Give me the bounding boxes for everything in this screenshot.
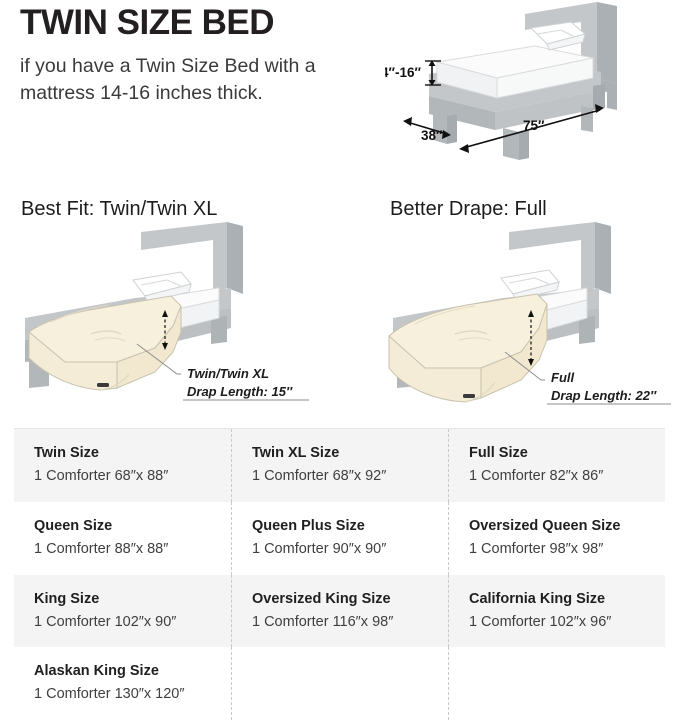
size-dimensions: 1 Comforter 88″x 88″ [34, 539, 231, 561]
drape-annotation-line1-left: Twin/Twin XL [187, 366, 269, 381]
size-name: Oversized Queen Size [469, 516, 665, 537]
size-dimensions: 1 Comforter 130″x 120″ [34, 684, 231, 706]
table-cell: California King Size 1 Comforter 102″x 9… [448, 575, 665, 648]
page-subtitle: if you have a Twin Size Bed with a mattr… [20, 53, 320, 107]
size-name: California King Size [469, 589, 665, 610]
bed-length-label: 75″ [523, 118, 545, 133]
size-dimensions: 1 Comforter 68″x 92″ [252, 466, 448, 488]
size-name: Full Size [469, 443, 665, 464]
table-row: Queen Size 1 Comforter 88″x 88″ Queen Pl… [14, 502, 665, 575]
table-cell: King Size 1 Comforter 102″x 90″ [14, 575, 231, 648]
size-dimensions: 1 Comforter 102″x 90″ [34, 612, 231, 634]
drape-annotation-line2-left: Drap Length: 15″ [187, 384, 293, 399]
size-name: Alaskan King Size [34, 661, 231, 682]
drape-annotation-line1-right: Full [551, 370, 574, 385]
size-name: Twin Size [34, 443, 231, 464]
section-heading-best-fit: Best Fit: Twin/Twin XL [21, 198, 217, 221]
size-dimensions: 1 Comforter 102″x 96″ [469, 612, 665, 634]
table-row: Alaskan King Size 1 Comforter 130″x 120″ [14, 647, 665, 720]
size-name: Twin XL Size [252, 443, 448, 464]
table-cell-empty [448, 647, 665, 720]
table-row: Twin Size 1 Comforter 68″x 88″ Twin XL S… [14, 429, 665, 502]
table-cell: Twin XL Size 1 Comforter 68″x 92″ [231, 429, 448, 502]
size-dimensions: 1 Comforter 98″x 98″ [469, 539, 665, 561]
table-cell: Oversized Queen Size 1 Comforter 98″x 98… [448, 502, 665, 575]
table-cell: Alaskan King Size 1 Comforter 130″x 120″ [14, 647, 231, 720]
size-dimensions: 1 Comforter 82″x 86″ [469, 466, 665, 488]
size-name: Oversized King Size [252, 589, 448, 610]
best-fit-bed-illustration: Twin/Twin XL Drap Length: 15″ [5, 222, 345, 418]
better-drape-bed-illustration: Full Drap Length: 22″ [345, 222, 679, 418]
table-cell: Oversized King Size 1 Comforter 116″x 98… [231, 575, 448, 648]
size-dimensions: 1 Comforter 90″x 90″ [252, 539, 448, 561]
size-name: King Size [34, 589, 231, 610]
size-name: Queen Size [34, 516, 231, 537]
comforter-size-table: Twin Size 1 Comforter 68″x 88″ Twin XL S… [14, 428, 665, 720]
size-name: Queen Plus Size [252, 516, 448, 537]
page-title: TWIN SIZE BED [20, 4, 350, 41]
bed-width-label: 38″ [421, 128, 443, 143]
size-dimensions: 1 Comforter 116″x 98″ [252, 612, 448, 634]
size-dimensions: 1 Comforter 68″x 88″ [34, 466, 231, 488]
drape-annotation-line2-right: Drap Length: 22″ [551, 388, 657, 403]
twin-bed-dimension-illustration: 14″-16″ 38″ 75″ [385, 0, 679, 172]
header-block: TWIN SIZE BED if you have a Twin Size Be… [20, 4, 350, 107]
section-heading-better-drape: Better Drape: Full [390, 198, 547, 221]
table-cell: Full Size 1 Comforter 82″x 86″ [448, 429, 665, 502]
table-cell: Twin Size 1 Comforter 68″x 88″ [14, 429, 231, 502]
table-cell: Queen Plus Size 1 Comforter 90″x 90″ [231, 502, 448, 575]
bed-height-label: 14″-16″ [385, 65, 422, 80]
table-row: King Size 1 Comforter 102″x 90″ Oversize… [14, 575, 665, 648]
table-cell: Queen Size 1 Comforter 88″x 88″ [14, 502, 231, 575]
table-cell-empty [231, 647, 448, 720]
